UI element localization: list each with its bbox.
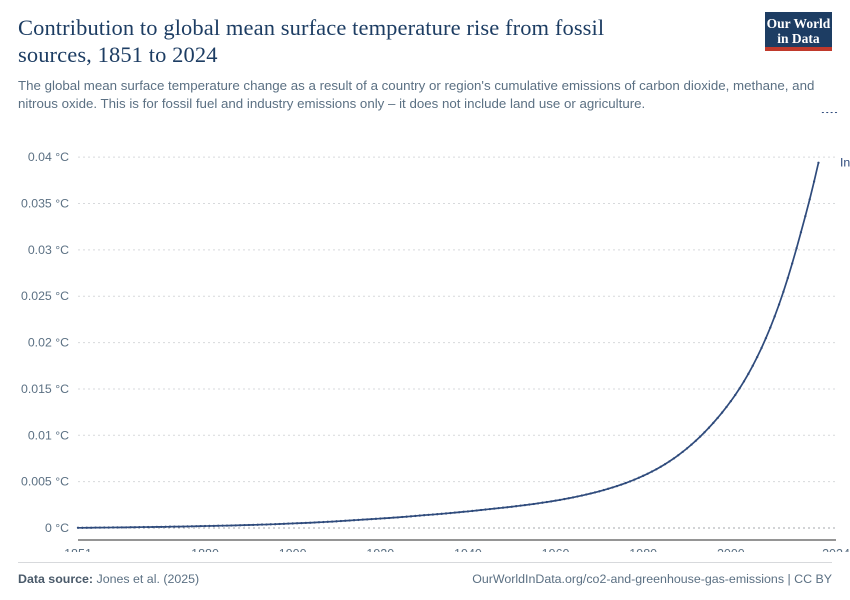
y-axis-tick-label: 0.035 °C bbox=[21, 197, 69, 211]
data-point bbox=[655, 468, 657, 470]
data-point bbox=[458, 511, 460, 513]
data-point bbox=[506, 506, 508, 508]
data-point bbox=[721, 411, 723, 413]
data-point bbox=[471, 510, 473, 512]
data-point bbox=[178, 525, 180, 527]
data-point bbox=[182, 525, 184, 527]
data-point bbox=[585, 493, 587, 495]
data-point bbox=[99, 526, 101, 528]
x-axis-tick-label: 1980 bbox=[629, 547, 657, 552]
attribution-text[interactable]: OurWorldInData.org/co2-and-greenhouse-ga… bbox=[472, 572, 832, 586]
data-point bbox=[541, 502, 543, 504]
data-point bbox=[462, 511, 464, 513]
x-axis-tick-label: 2000 bbox=[717, 547, 745, 552]
data-point bbox=[349, 519, 351, 521]
data-point bbox=[366, 518, 368, 520]
data-point bbox=[686, 447, 688, 449]
data-point bbox=[795, 247, 797, 249]
data-point bbox=[208, 525, 210, 527]
data-point bbox=[384, 517, 386, 519]
y-axis-tick-label: 0 °C bbox=[45, 521, 69, 535]
data-point bbox=[502, 507, 504, 509]
data-point bbox=[156, 526, 158, 528]
data-point bbox=[752, 365, 754, 367]
data-point bbox=[340, 520, 342, 522]
data-point bbox=[121, 526, 123, 528]
data-point bbox=[576, 495, 578, 497]
data-point bbox=[90, 527, 92, 529]
data-point bbox=[730, 400, 732, 402]
data-point bbox=[235, 524, 237, 526]
data-point bbox=[134, 526, 136, 528]
data-point bbox=[484, 508, 486, 510]
data-point bbox=[546, 501, 548, 503]
data-point bbox=[774, 315, 776, 317]
data-point bbox=[226, 524, 228, 526]
data-point bbox=[77, 527, 79, 529]
data-point bbox=[791, 262, 793, 264]
data-point bbox=[524, 504, 526, 506]
data-point bbox=[261, 523, 263, 525]
data-point bbox=[616, 485, 618, 487]
data-point bbox=[200, 525, 202, 527]
data-point bbox=[388, 517, 390, 519]
data-point bbox=[309, 522, 311, 524]
series-label-india[interactable]: India bbox=[840, 156, 850, 170]
data-point bbox=[436, 513, 438, 515]
data-point bbox=[489, 508, 491, 510]
data-point bbox=[594, 491, 596, 493]
data-point bbox=[804, 215, 806, 217]
data-point bbox=[357, 519, 359, 521]
data-point bbox=[800, 231, 802, 233]
data-point bbox=[734, 394, 736, 396]
data-point bbox=[327, 521, 329, 523]
data-point bbox=[568, 497, 570, 499]
data-point bbox=[169, 526, 171, 528]
data-point bbox=[809, 198, 811, 200]
data-point bbox=[344, 520, 346, 522]
y-axis-tick-label: 0.015 °C bbox=[21, 382, 69, 396]
data-point bbox=[195, 525, 197, 527]
data-point bbox=[265, 523, 267, 525]
chart-subtitle: The global mean surface temperature chan… bbox=[18, 77, 818, 112]
data-point bbox=[664, 463, 666, 465]
x-axis-tick-label: 1880 bbox=[191, 547, 219, 552]
data-point bbox=[673, 457, 675, 459]
data-point bbox=[835, 112, 837, 113]
data-point bbox=[270, 523, 272, 525]
data-point bbox=[370, 518, 372, 520]
data-point bbox=[515, 505, 517, 507]
data-point bbox=[423, 514, 425, 516]
data-point bbox=[646, 473, 648, 475]
x-axis-tick-label: 1920 bbox=[366, 547, 394, 552]
our-world-in-data-logo[interactable]: Our World in Data bbox=[765, 12, 832, 51]
data-point bbox=[813, 180, 815, 182]
data-point bbox=[292, 522, 294, 524]
data-point bbox=[642, 475, 644, 477]
data-point bbox=[778, 303, 780, 305]
data-point bbox=[454, 511, 456, 513]
data-point bbox=[138, 526, 140, 528]
data-point bbox=[103, 526, 105, 528]
data-point bbox=[607, 488, 609, 490]
data-point bbox=[629, 480, 631, 482]
y-axis-tick-label: 0.03 °C bbox=[28, 243, 69, 257]
data-point bbox=[204, 525, 206, 527]
data-point bbox=[335, 520, 337, 522]
data-point bbox=[379, 517, 381, 519]
data-point bbox=[283, 523, 285, 525]
chart-plot-area[interactable]: 0 °C0.005 °C0.01 °C0.015 °C0.02 °C0.025 … bbox=[0, 112, 850, 552]
data-point bbox=[817, 162, 819, 164]
data-point bbox=[493, 507, 495, 509]
data-point bbox=[143, 526, 145, 528]
data-point bbox=[213, 525, 215, 527]
y-axis-tick-label: 0.025 °C bbox=[21, 289, 69, 303]
data-point bbox=[747, 373, 749, 375]
data-point bbox=[313, 521, 315, 523]
data-point bbox=[611, 486, 613, 488]
data-point bbox=[677, 454, 679, 456]
data-point bbox=[243, 524, 245, 526]
data-point bbox=[830, 112, 832, 113]
page-title: Contribution to global mean surface temp… bbox=[18, 14, 668, 68]
x-axis-tick-label: 1900 bbox=[279, 547, 307, 552]
data-point bbox=[519, 505, 521, 507]
data-point bbox=[550, 500, 552, 502]
data-point bbox=[278, 523, 280, 525]
data-point bbox=[589, 492, 591, 494]
data-point bbox=[765, 337, 767, 339]
data-point bbox=[274, 523, 276, 525]
data-point bbox=[419, 514, 421, 516]
data-point bbox=[787, 277, 789, 279]
logo-line-1: Our World bbox=[765, 16, 832, 31]
data-point bbox=[449, 512, 451, 514]
data-point bbox=[563, 498, 565, 500]
data-point bbox=[826, 112, 828, 113]
data-point bbox=[756, 356, 758, 358]
data-point bbox=[480, 509, 482, 511]
data-point bbox=[717, 417, 719, 419]
data-point bbox=[296, 522, 298, 524]
data-point bbox=[725, 406, 727, 408]
data-point bbox=[651, 470, 653, 472]
data-point bbox=[668, 460, 670, 462]
data-point bbox=[353, 519, 355, 521]
data-point bbox=[432, 513, 434, 515]
data-point bbox=[572, 496, 574, 498]
data-source-label: Data source: bbox=[18, 572, 93, 586]
data-point bbox=[186, 525, 188, 527]
data-point bbox=[620, 483, 622, 485]
x-axis-tick-label: 1960 bbox=[542, 547, 570, 552]
data-point bbox=[511, 506, 513, 508]
data-point bbox=[603, 489, 605, 491]
data-point bbox=[217, 525, 219, 527]
logo-line-2: in Data bbox=[765, 31, 832, 46]
data-source-value[interactable]: Jones et al. (2025) bbox=[97, 572, 200, 586]
data-point bbox=[690, 444, 692, 446]
series-line-india[interactable] bbox=[78, 163, 818, 528]
chart-page: Contribution to global mean surface temp… bbox=[0, 0, 850, 600]
data-point bbox=[476, 509, 478, 511]
data-point bbox=[410, 515, 412, 517]
data-point bbox=[151, 526, 153, 528]
data-point bbox=[256, 524, 258, 526]
data-point bbox=[331, 520, 333, 522]
data-point bbox=[375, 518, 377, 520]
data-point bbox=[287, 522, 289, 524]
data-point bbox=[147, 526, 149, 528]
data-point bbox=[300, 522, 302, 524]
data-point bbox=[86, 527, 88, 529]
data-point bbox=[703, 431, 705, 433]
y-axis-tick-label: 0.005 °C bbox=[21, 475, 69, 489]
data-point bbox=[581, 494, 583, 496]
data-point bbox=[559, 499, 561, 501]
data-point bbox=[695, 440, 697, 442]
data-point bbox=[81, 527, 83, 529]
data-point bbox=[533, 503, 535, 505]
x-axis-tick-label: 1940 bbox=[454, 547, 482, 552]
data-point bbox=[116, 526, 118, 528]
data-point bbox=[738, 387, 740, 389]
data-point bbox=[528, 503, 530, 505]
data-point bbox=[252, 524, 254, 526]
data-point bbox=[633, 478, 635, 480]
data-point bbox=[305, 522, 307, 524]
data-point bbox=[221, 525, 223, 527]
y-axis-tick-label: 0.01 °C bbox=[28, 428, 69, 442]
chart-header: Contribution to global mean surface temp… bbox=[0, 0, 850, 112]
data-point bbox=[682, 451, 684, 453]
data-source: Data source: Jones et al. (2025) bbox=[18, 572, 199, 586]
data-point bbox=[230, 524, 232, 526]
data-point bbox=[769, 327, 771, 329]
y-axis-tick-label: 0.02 °C bbox=[28, 336, 69, 350]
data-point bbox=[708, 427, 710, 429]
data-point bbox=[318, 521, 320, 523]
x-axis-tick-label: 1851 bbox=[64, 547, 92, 552]
data-point bbox=[397, 516, 399, 518]
data-point bbox=[712, 422, 714, 424]
x-axis-tick-label: 2024 bbox=[822, 547, 850, 552]
data-point bbox=[414, 515, 416, 517]
data-point bbox=[445, 512, 447, 514]
data-point bbox=[362, 519, 364, 521]
data-point bbox=[405, 516, 407, 518]
data-point bbox=[239, 524, 241, 526]
data-point bbox=[441, 513, 443, 515]
data-point bbox=[164, 526, 166, 528]
data-point bbox=[554, 500, 556, 502]
data-point bbox=[392, 516, 394, 518]
data-point bbox=[598, 490, 600, 492]
data-point bbox=[760, 347, 762, 349]
data-point bbox=[537, 502, 539, 504]
data-point bbox=[160, 526, 162, 528]
data-point bbox=[108, 526, 110, 528]
data-point bbox=[401, 516, 403, 518]
data-point bbox=[129, 526, 131, 528]
data-point bbox=[497, 507, 499, 509]
data-point bbox=[248, 524, 250, 526]
data-point bbox=[173, 525, 175, 527]
data-point bbox=[638, 477, 640, 479]
data-point bbox=[822, 112, 824, 113]
y-axis-tick-label: 0.04 °C bbox=[28, 150, 69, 164]
data-point bbox=[427, 514, 429, 516]
data-point bbox=[782, 291, 784, 293]
data-point bbox=[699, 435, 701, 437]
chart-footer: Data source: Jones et al. (2025) OurWorl… bbox=[18, 562, 832, 586]
data-point bbox=[660, 466, 662, 468]
data-point bbox=[625, 482, 627, 484]
data-point bbox=[94, 526, 96, 528]
data-point bbox=[322, 521, 324, 523]
data-point bbox=[125, 526, 127, 528]
data-point bbox=[467, 510, 469, 512]
data-point bbox=[743, 380, 745, 382]
data-point bbox=[191, 525, 193, 527]
data-point bbox=[112, 526, 114, 528]
line-chart-svg: 0 °C0.005 °C0.01 °C0.015 °C0.02 °C0.025 … bbox=[0, 112, 850, 552]
